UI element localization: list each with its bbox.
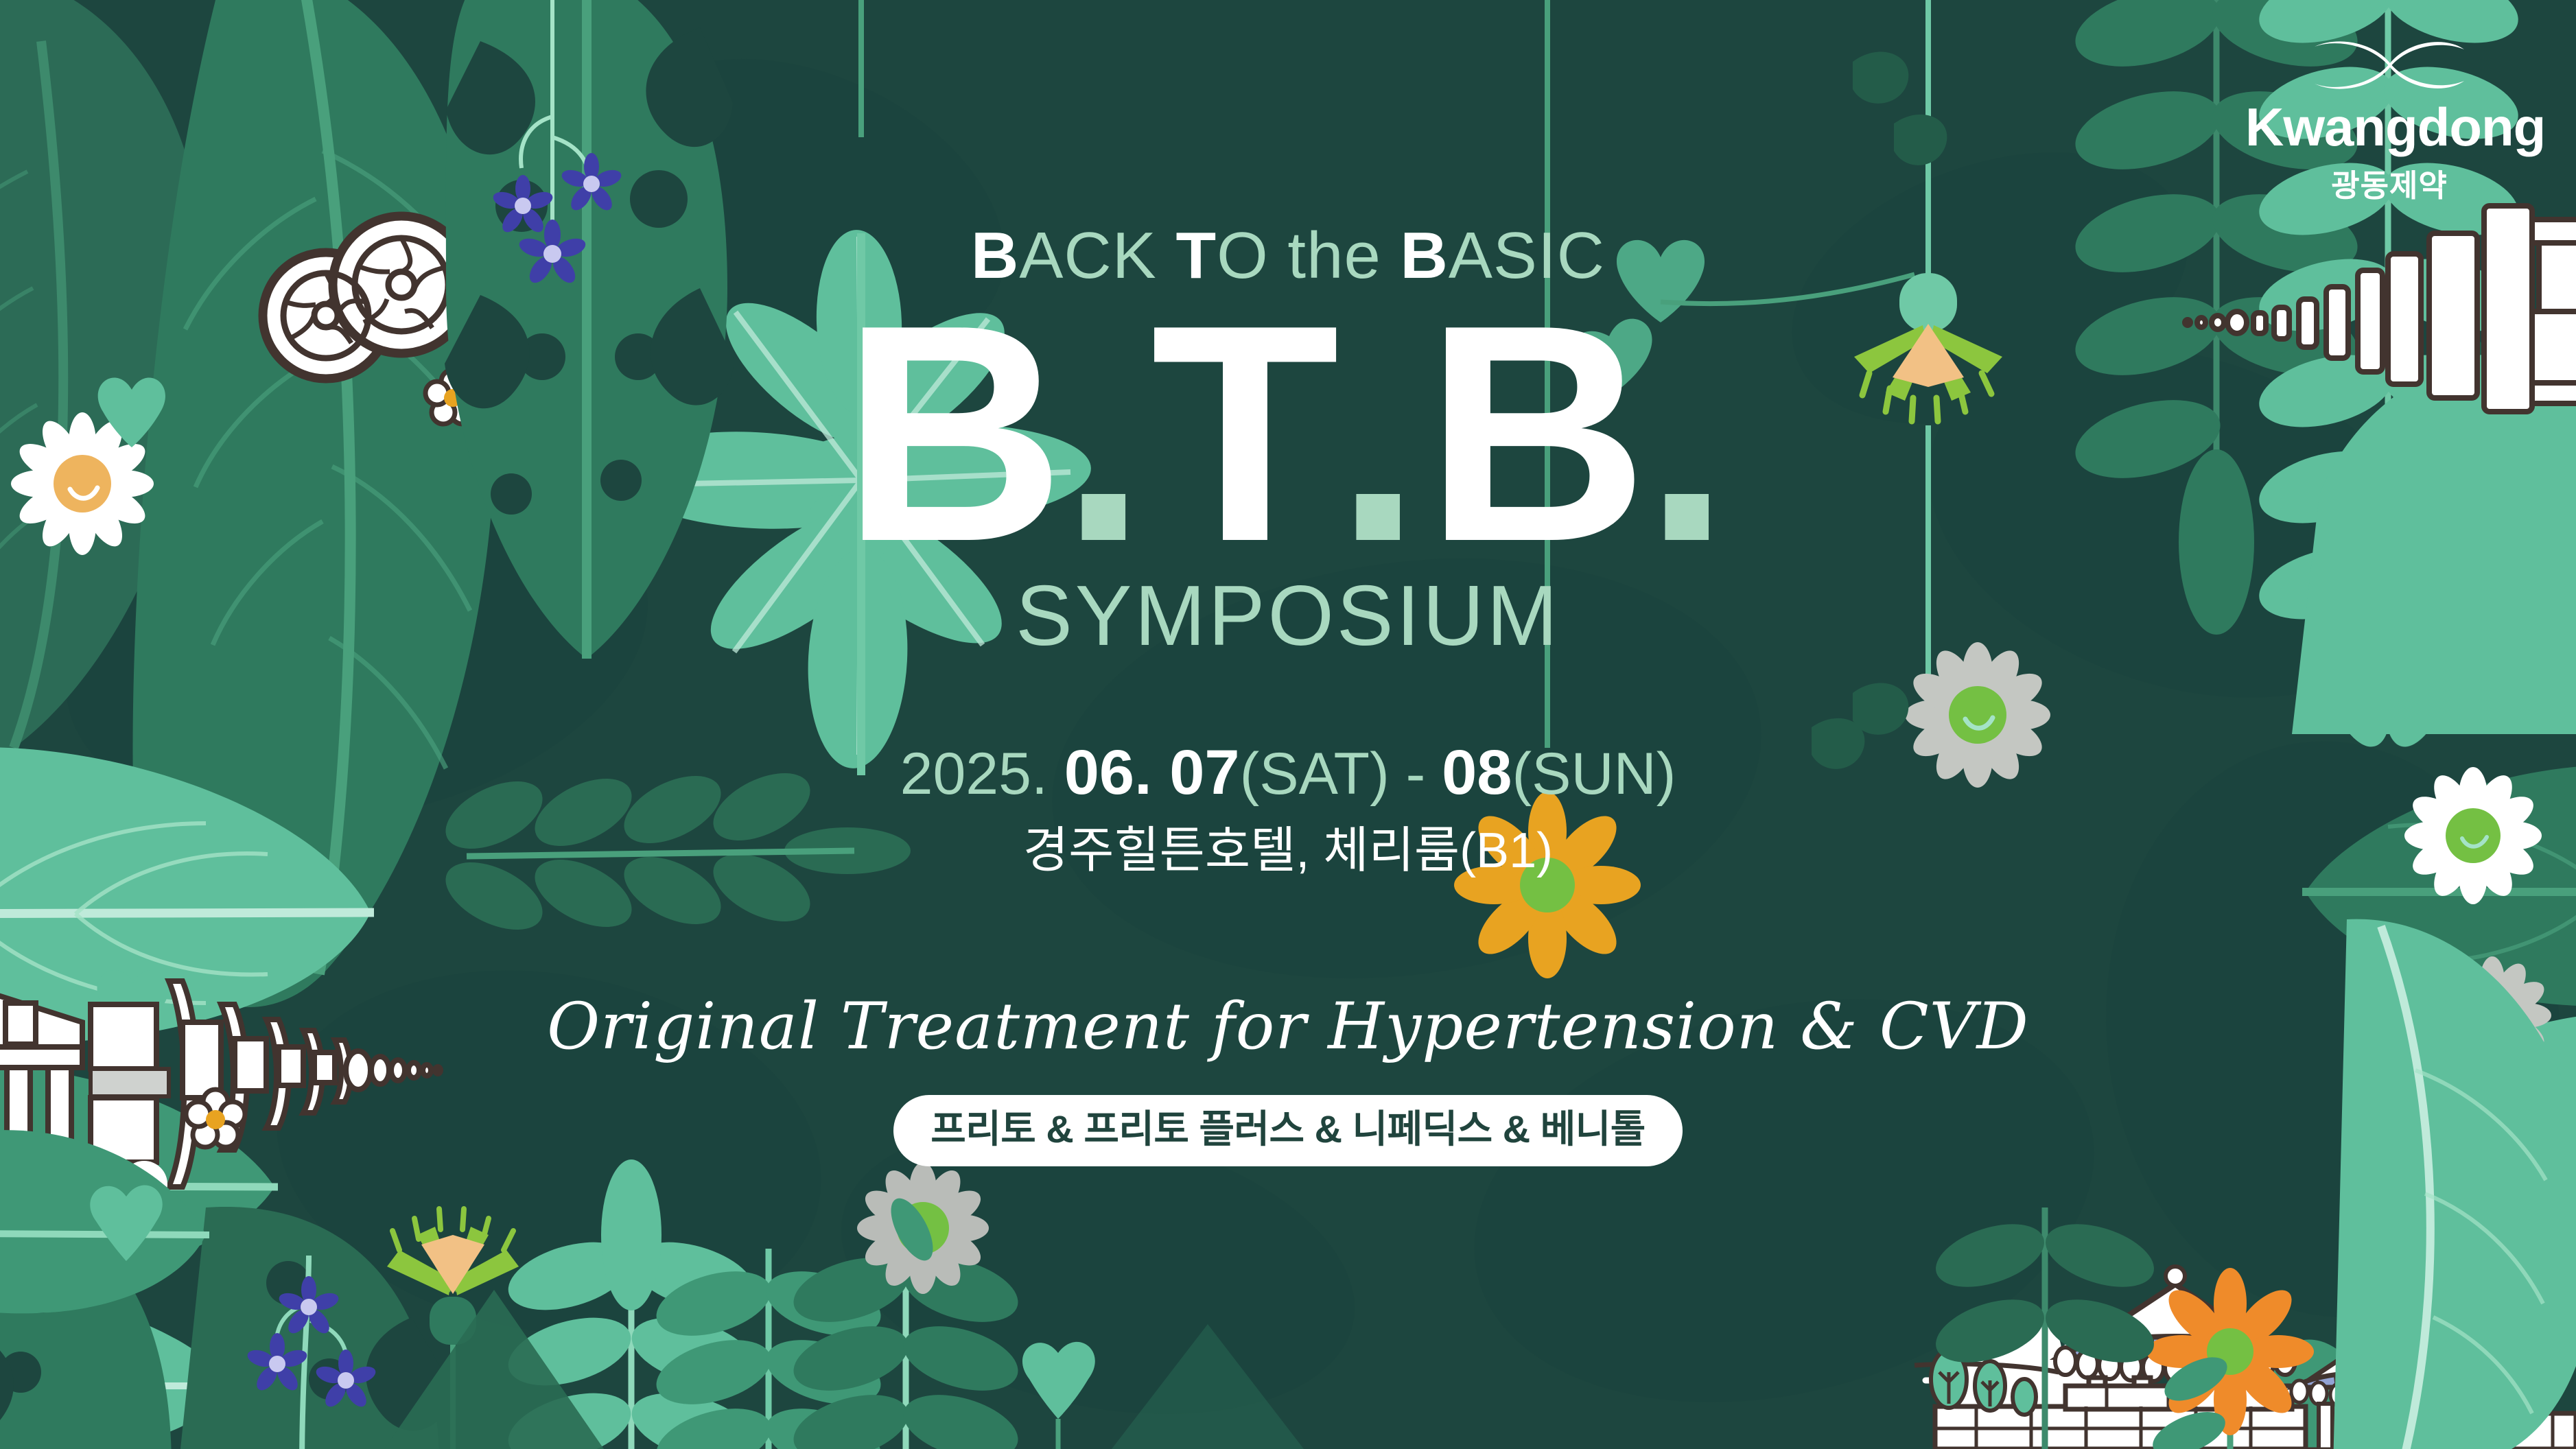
products-pill[interactable]: 프리토 & 프리토 플러스 & 니페딕스 & 베니톨 [893, 1095, 1683, 1166]
event-venue: 경주힐튼호텔, 체리룸(B1) [0, 824, 2576, 878]
btb-dot-2: . [1335, 261, 1425, 606]
kwangdong-fish-knot-icon [2310, 36, 2468, 95]
btb-letter-b1: B [842, 261, 1061, 606]
btb-letter-t: T [1151, 261, 1335, 606]
event-day1-suffix: (SAT) - [1240, 741, 1442, 807]
brand-logo[interactable]: Kwangdong 광동제약 [2245, 36, 2533, 205]
event-year: 2025. [900, 741, 1048, 807]
event-tagline: Original Treatment for Hypertension & CV… [0, 995, 2576, 1059]
symposium-subtitle: SYMPOSIUM [0, 574, 2576, 659]
poster-canvas: Kwangdong 광동제약 BACK TO the BASIC B.T.B. … [0, 0, 2576, 1449]
event-day2: 08 [1442, 738, 1512, 808]
btb-dot-3: . [1644, 261, 1734, 606]
btb-wordmark: B.T.B. [0, 301, 2576, 567]
brand-name-korean: 광동제약 [2245, 161, 2533, 205]
background-illustration [0, 0, 2576, 1449]
event-day2-suffix: (SUN) [1512, 741, 1676, 807]
brand-name: Kwangdong [2245, 102, 2533, 152]
btb-letter-b2: B [1425, 261, 1644, 606]
event-date: 2025. 06. 07(SAT) - 08(SUN) [0, 740, 2576, 806]
btb-dot-1: . [1061, 261, 1151, 606]
products-pill-wrapper: 프리토 & 프리토 플러스 & 니페딕스 & 베니톨 [0, 1095, 2576, 1166]
event-month-day: 06. 07 [1064, 738, 1240, 808]
